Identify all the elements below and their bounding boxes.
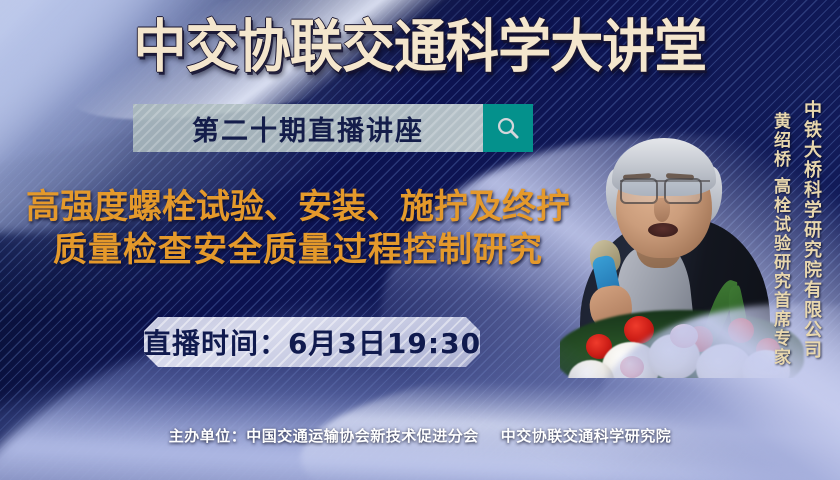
- episode-search-bar[interactable]: 第二十期直播讲座: [133, 104, 533, 152]
- glasses-lens-right: [664, 178, 702, 204]
- live-lecture-poster: 中交协联交通科学大讲堂 第二十期直播讲座 高强度螺栓试验、安装、施拧及终拧 质量…: [0, 0, 840, 480]
- lecture-topic-line2: 质量检查安全质量过程控制研究: [8, 229, 588, 272]
- footer-label: 主办单位：: [169, 427, 247, 445]
- page-title: 中交协联交通科学大讲堂: [29, 16, 810, 78]
- broadcast-time-text: 直播时间：6月3日19:30: [144, 322, 480, 362]
- search-input[interactable]: 第二十期直播讲座: [133, 104, 483, 152]
- speaker-mouth: [648, 223, 678, 237]
- search-icon: [495, 115, 521, 141]
- speaker-organization: 中铁大桥科学研究院有限公司: [798, 100, 824, 360]
- glasses-lens-left: [620, 178, 658, 204]
- broadcast-time-badge: 直播时间：6月3日19:30: [144, 317, 480, 367]
- footer-organizers: 主办单位：中国交通运输协会新技术促进分会中交协联交通科学研究院: [0, 425, 840, 446]
- footer-organizer-2: 中交协联交通科学研究院: [501, 427, 672, 445]
- speaker-nose: [654, 198, 670, 222]
- search-button[interactable]: [483, 104, 533, 152]
- search-input-value: 第二十期直播讲座: [192, 109, 424, 148]
- footer-organizer-1: 中国交通运输协会新技术促进分会: [246, 427, 479, 445]
- speaker-name-title: 黄绍桥 高栓试验研究首席专家: [768, 112, 793, 367]
- lecture-topic: 高强度螺栓试验、安装、施拧及终拧 质量检查安全质量过程控制研究: [8, 186, 588, 272]
- lecture-topic-line1: 高强度螺栓试验、安装、施拧及终拧: [8, 186, 588, 229]
